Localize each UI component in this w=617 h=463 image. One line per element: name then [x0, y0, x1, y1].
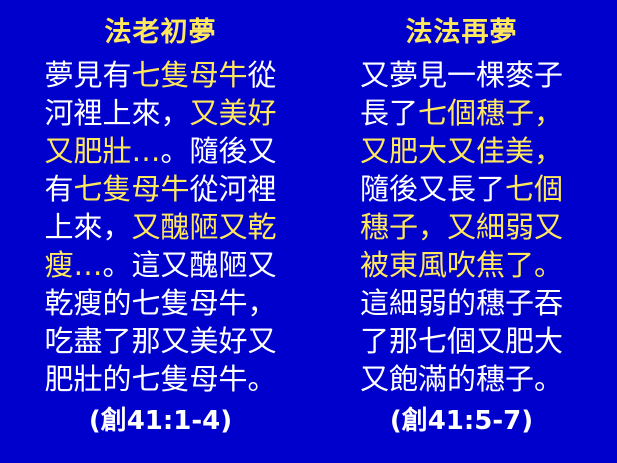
- highlighted-text-segment: 被東風吹焦了。: [360, 248, 563, 282]
- body-text-right: 又夢見一棵麥子長了七個穗子，又肥大又佳美，隨後又長了七個穗子，又細弱又被東風吹焦…: [315, 56, 609, 398]
- text-segment: 肥壯的七隻母牛。: [44, 362, 276, 396]
- text-line: 有七隻母牛從河裡: [44, 170, 276, 208]
- text-segment: 有: [44, 172, 73, 206]
- column-left: 法老初夢 夢見有七隻母牛從河裡上來，又美好又肥壯…。隨後又有七隻母牛從河裡上來，…: [9, 16, 309, 438]
- text-segment: 了那七個又肥大: [360, 324, 563, 358]
- text-segment: 又飽滿的穗子。: [360, 362, 563, 396]
- text-segment: 上來，: [44, 210, 131, 244]
- highlighted-text-segment: 七個穗子，: [418, 96, 563, 130]
- text-segment: 。隨後又: [161, 134, 277, 168]
- highlighted-text-segment: 穗子，又細弱又: [360, 210, 563, 244]
- highlighted-text-segment: 又醜陋又乾: [132, 210, 277, 244]
- text-line: 又飽滿的穗子。: [360, 360, 563, 398]
- text-segment: 隨後又長了: [360, 172, 505, 206]
- text-line: 肥壯的七隻母牛。: [44, 360, 276, 398]
- text-line: 吃盡了那又美好又: [44, 322, 276, 360]
- text-line: 夢見有七隻母牛從: [44, 56, 276, 94]
- text-line: 又肥大又佳美，: [360, 132, 563, 170]
- text-line: 上來，又醜陋又乾: [44, 208, 276, 246]
- text-segment: 從: [248, 58, 277, 92]
- highlighted-text-segment: 七隻母牛: [73, 172, 189, 206]
- text-segment: 長了: [360, 96, 418, 130]
- text-line: 隨後又長了七個: [360, 170, 563, 208]
- text-line: 這細弱的穗子吞: [360, 284, 563, 322]
- text-line: 又肥壯…。隨後又: [44, 132, 276, 170]
- text-segment: 。這又醜陋又: [103, 248, 277, 282]
- scripture-citation-right: (創41:5-7): [390, 404, 533, 438]
- highlighted-text-segment: 七個: [505, 172, 563, 206]
- text-line: 被東風吹焦了。: [360, 246, 563, 284]
- text-line: 瘦…。這又醜陋又: [44, 246, 276, 284]
- highlighted-text-segment: 又肥壯…: [44, 134, 160, 168]
- text-segment: 吃盡了那又美好又: [44, 324, 276, 358]
- text-segment: 從河裡: [190, 172, 277, 206]
- highlighted-text-segment: 又美好: [190, 96, 277, 130]
- slide-canvas: 法老初夢 夢見有七隻母牛從河裡上來，又美好又肥壯…。隨後又有七隻母牛從河裡上來，…: [0, 0, 617, 463]
- body-text-left: 夢見有七隻母牛從河裡上來，又美好又肥壯…。隨後又有七隻母牛從河裡上來，又醜陋又乾…: [15, 56, 307, 398]
- text-segment: 河裡上來，: [44, 96, 189, 130]
- column-title-left: 法老初夢: [105, 16, 217, 56]
- text-segment: 這細弱的穗子吞: [360, 286, 563, 320]
- text-line: 乾瘦的七隻母牛，: [44, 284, 276, 322]
- text-line: 又夢見一棵麥子: [360, 56, 563, 94]
- text-line: 長了七個穗子，: [360, 94, 563, 132]
- highlighted-text-segment: 瘦…: [44, 248, 102, 282]
- scripture-citation-left: (創41:1-4): [89, 404, 232, 438]
- text-segment: 乾瘦的七隻母牛，: [44, 286, 276, 320]
- highlighted-text-segment: 又肥大又佳美，: [360, 134, 563, 168]
- text-line: 了那七個又肥大: [360, 322, 563, 360]
- column-title-right: 法法再夢: [406, 16, 518, 56]
- text-segment: 又夢見一棵麥子: [360, 58, 563, 92]
- text-line: 河裡上來，又美好: [44, 94, 276, 132]
- column-right: 法法再夢 又夢見一棵麥子長了七個穗子，又肥大又佳美，隨後又長了七個穗子，又細弱又…: [309, 16, 609, 438]
- text-segment: 夢見有: [44, 58, 131, 92]
- text-line: 穗子，又細弱又: [360, 208, 563, 246]
- highlighted-text-segment: 七隻母牛: [131, 58, 247, 92]
